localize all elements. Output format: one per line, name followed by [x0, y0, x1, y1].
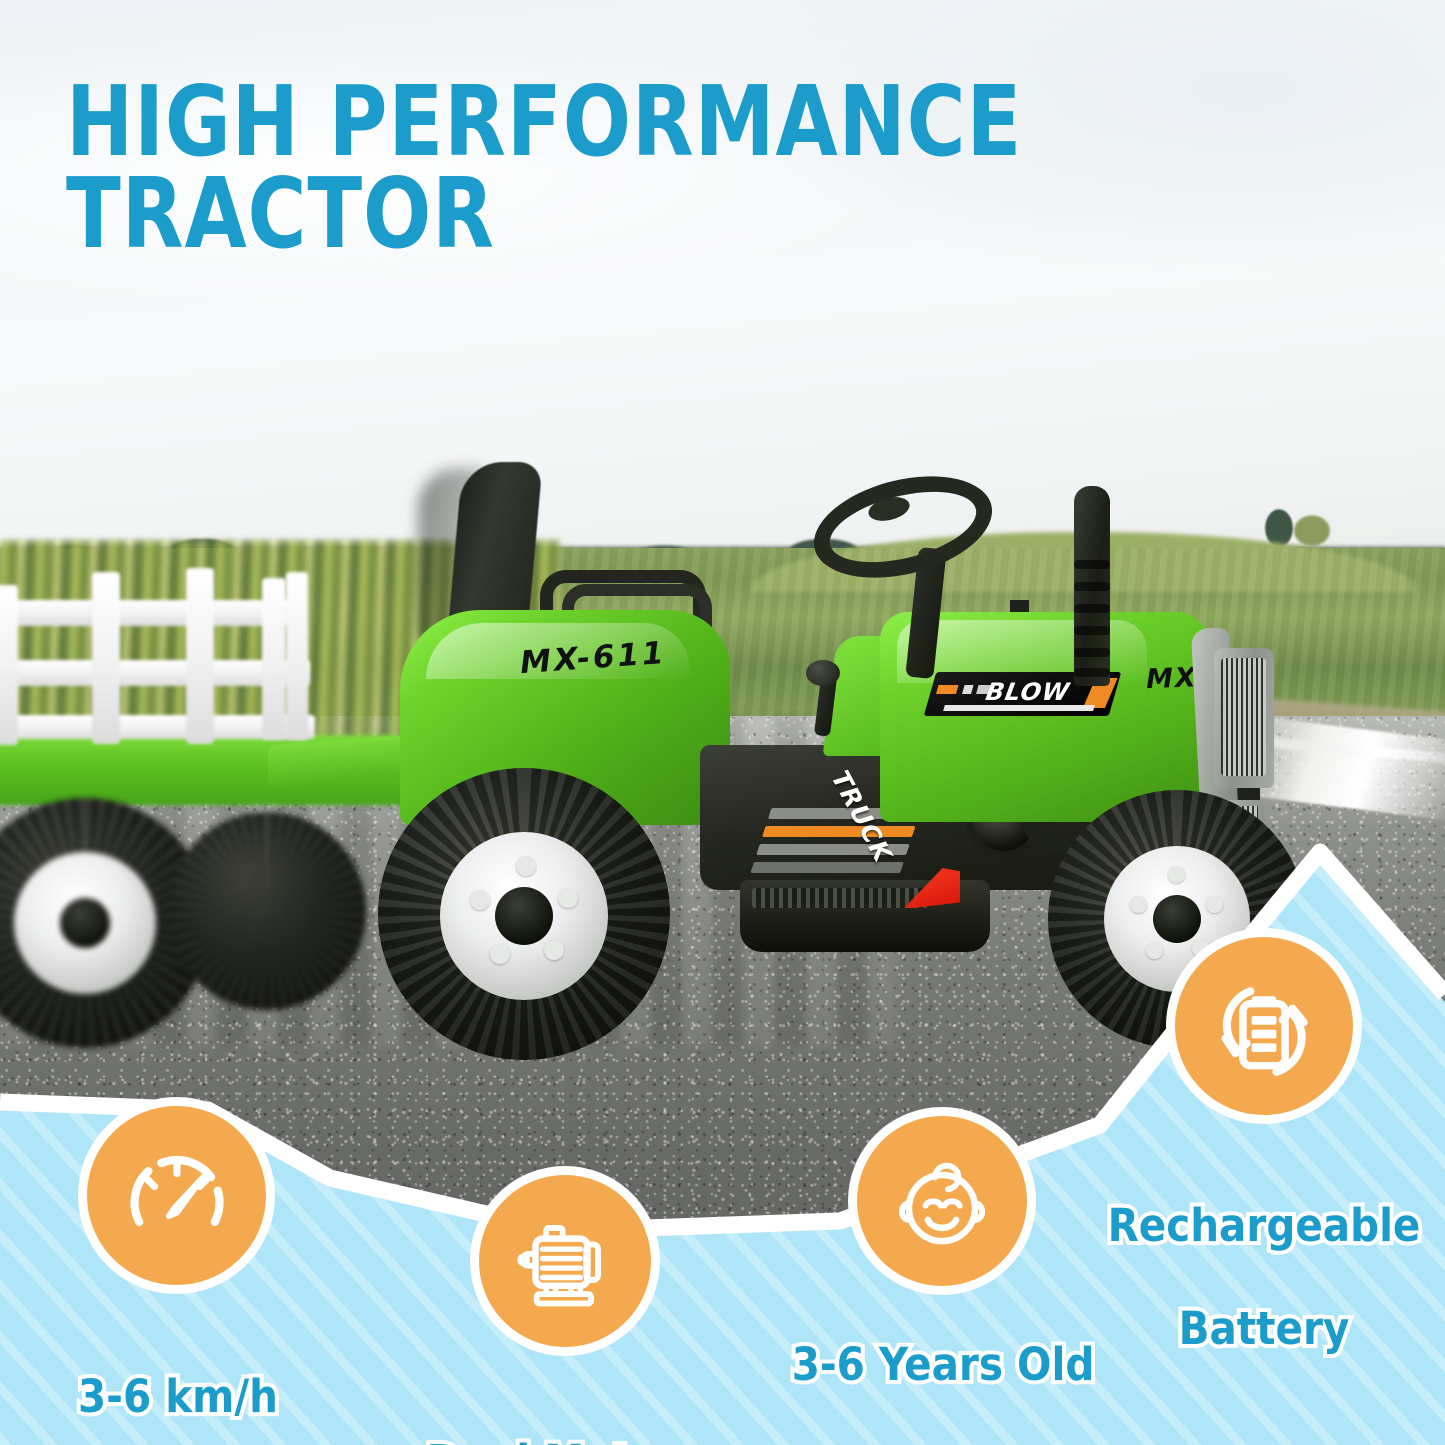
baby-face-icon [883, 1142, 1001, 1260]
trailer-post-2 [92, 572, 120, 744]
trailer-rail-top [0, 600, 300, 626]
front-grille [1214, 648, 1274, 788]
steering-wheel [803, 459, 1002, 594]
battery-badge-circle[interactable] [1166, 928, 1362, 1124]
trailer-post-5 [286, 572, 308, 740]
trailer-post-4 [262, 578, 286, 740]
brand-decal-text: BLOW [984, 678, 1073, 706]
speedometer-badge-circle[interactable] [78, 1097, 275, 1294]
page-title: HIGH PERFORMANCE TRACTOR [66, 76, 1133, 260]
trailer-wheel-2 [168, 812, 366, 1010]
rechargeable-battery-icon [1202, 964, 1326, 1088]
speedometer-icon [118, 1137, 236, 1255]
exhaust-stack [1074, 486, 1110, 686]
trailer-post-3 [186, 568, 214, 744]
trailer-rim-1 [14, 852, 156, 994]
age-badge-circle[interactable] [848, 1107, 1036, 1295]
feature-label-motors-line1: Dual Motors [380, 1436, 750, 1445]
grille-slats [1221, 658, 1266, 776]
electric-motor-icon [506, 1202, 624, 1320]
product-feature-poster: MX-611 TRUCK BLOW MX-611 [0, 0, 1445, 1445]
feature-label-speed-line1: 3-6 km/h [0, 1371, 358, 1423]
step-tread [752, 888, 930, 908]
feature-label-battery-line1: Rechargeable [1046, 1200, 1445, 1252]
gear-lever-knob [806, 660, 840, 686]
feature-label-battery-line2: Battery [1046, 1303, 1445, 1355]
trailer-post-1 [0, 585, 18, 745]
headline-line-1: HIGH PERFORMANCE [66, 76, 1133, 168]
rear-wheel-rim [440, 832, 608, 1000]
motor-badge-circle[interactable] [470, 1166, 660, 1356]
headline-line-2: TRACTOR [66, 168, 1133, 260]
